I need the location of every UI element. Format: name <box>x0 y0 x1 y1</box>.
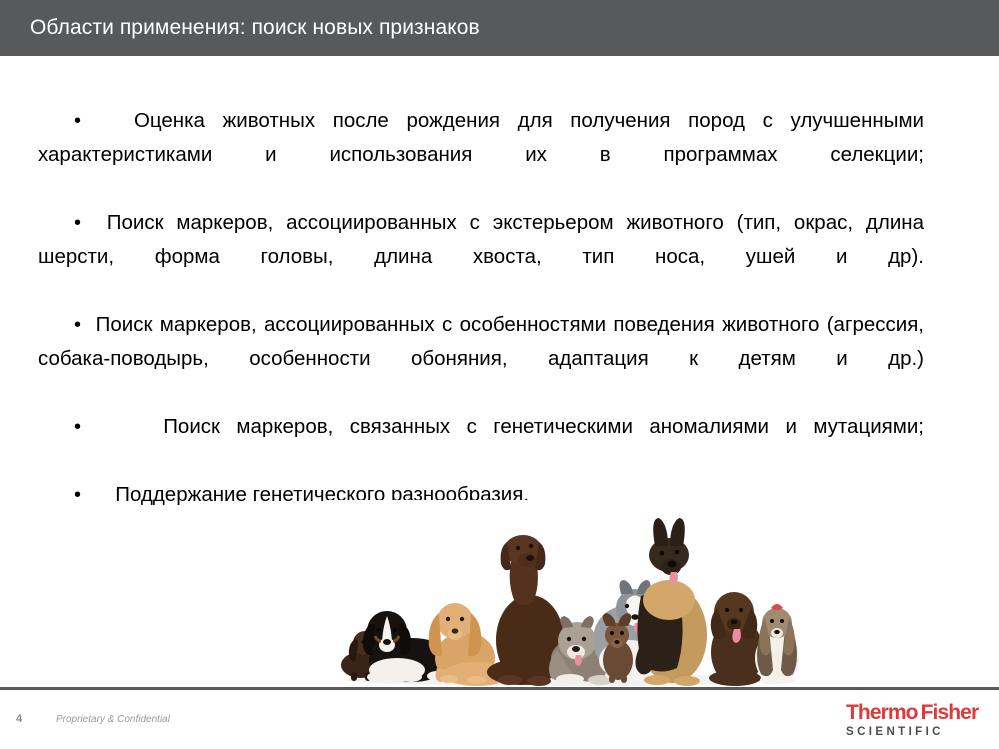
slide-header-bar: Области применения: поиск новых признако… <box>0 0 999 56</box>
page-title: Области применения: поиск новых признако… <box>30 0 480 56</box>
bullet-glyph: • <box>74 110 81 132</box>
confidentiality-notice: Proprietary & Confidential <box>56 714 170 725</box>
bullet-glyph: • <box>74 212 81 234</box>
logo-wordmark: ThermoFisher <box>846 702 986 723</box>
bullet-item: • Поиск маркеров, связанных с генетическ… <box>38 410 924 478</box>
page-number: 4 <box>16 713 22 725</box>
slide-content-body: • Оценка животных после рождения для пол… <box>38 104 924 512</box>
bullet-text: Поиск маркеров, связанных с генетическим… <box>163 415 924 438</box>
dogs-illustration <box>325 500 801 686</box>
thermo-fisher-logo: ThermoFisher SCIENTIFIC <box>846 702 986 740</box>
logo-word-fisher: Fisher <box>921 701 979 724</box>
bullet-glyph: • <box>74 314 81 336</box>
logo-subtitle: SCIENTIFIC <box>846 726 986 738</box>
bullet-text: Поиск маркеров, ассоциированных с особен… <box>38 313 924 370</box>
bullet-glyph: • <box>74 416 81 438</box>
dogs-group-photo <box>325 500 801 686</box>
footer-divider <box>0 687 999 690</box>
dog-chihuahua <box>603 613 633 683</box>
bullet-text: Поиск маркеров, ассоциированных с экстер… <box>38 211 924 268</box>
logo-word-thermo: Thermo <box>846 701 918 724</box>
bullet-item: • Оценка животных после рождения для пол… <box>38 104 924 206</box>
bullet-item: • Поиск маркеров, ассоциированных с особ… <box>38 308 924 410</box>
bullet-item: • Поиск маркеров, ассоциированных с экст… <box>38 206 924 308</box>
bullet-text: Оценка животных после рождения для получ… <box>38 109 924 166</box>
bullet-glyph: • <box>74 484 81 506</box>
